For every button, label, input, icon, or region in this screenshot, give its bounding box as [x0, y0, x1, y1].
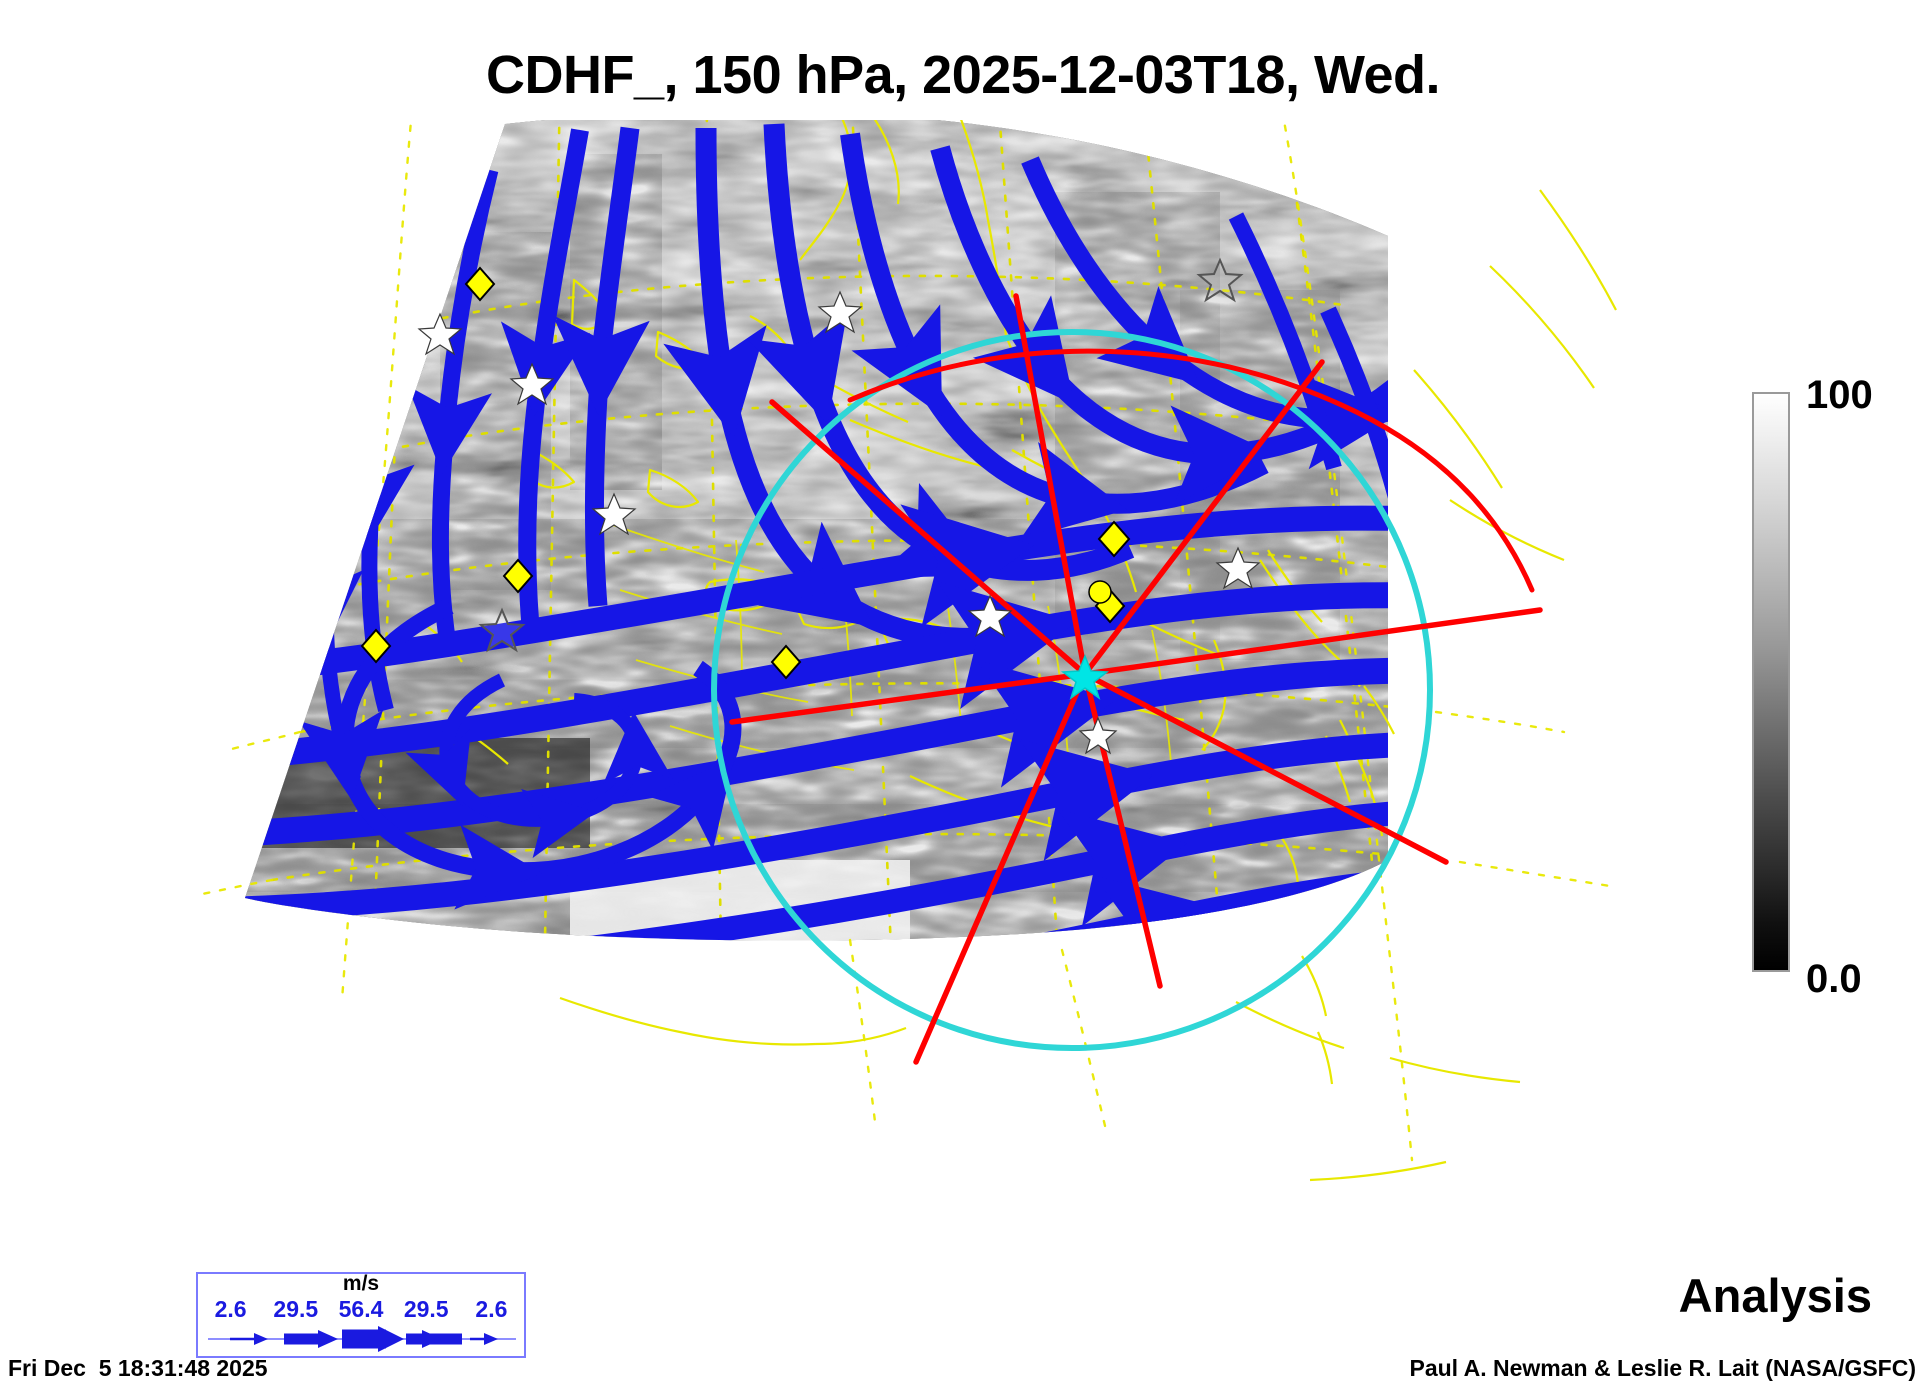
- figure-root: CDHF_, 150 hPa, 2025-12-03T18, Wed.: [0, 0, 1926, 1394]
- station-marker-filled: [1089, 581, 1111, 603]
- author-credit: Paul A. Newman & Leslie R. Lait (NASA/GS…: [1409, 1355, 1916, 1382]
- vector-key-value-5: 2.6: [459, 1296, 524, 1323]
- map-plot-area[interactable]: [150, 120, 1770, 1310]
- render-timestamp: Fri Dec 5 18:31:48 2025: [8, 1355, 268, 1382]
- colorbar-max-label: 100: [1806, 373, 1873, 418]
- colorbar: [1752, 392, 1790, 972]
- vector-key-value-4: 29.5: [394, 1296, 459, 1323]
- page-title: CDHF_, 150 hPa, 2025-12-03T18, Wed.: [0, 44, 1926, 106]
- vector-key-value-3: 56.4: [328, 1296, 393, 1323]
- vector-key-units: m/s: [198, 1272, 524, 1296]
- vector-key-value-1: 2.6: [198, 1296, 263, 1323]
- vector-key-values: 2.6 29.5 56.4 29.5 2.6: [198, 1296, 524, 1323]
- colorbar-gradient: [1752, 392, 1790, 972]
- vector-key-legend: m/s 2.6 29.5 56.4 29.5 2.6: [196, 1272, 526, 1358]
- colorbar-min-label: 0.0: [1806, 957, 1862, 1002]
- vector-key-arrows: [206, 1324, 518, 1354]
- vector-key-value-2: 29.5: [263, 1296, 328, 1323]
- analysis-mode-label: Analysis: [1679, 1268, 1872, 1323]
